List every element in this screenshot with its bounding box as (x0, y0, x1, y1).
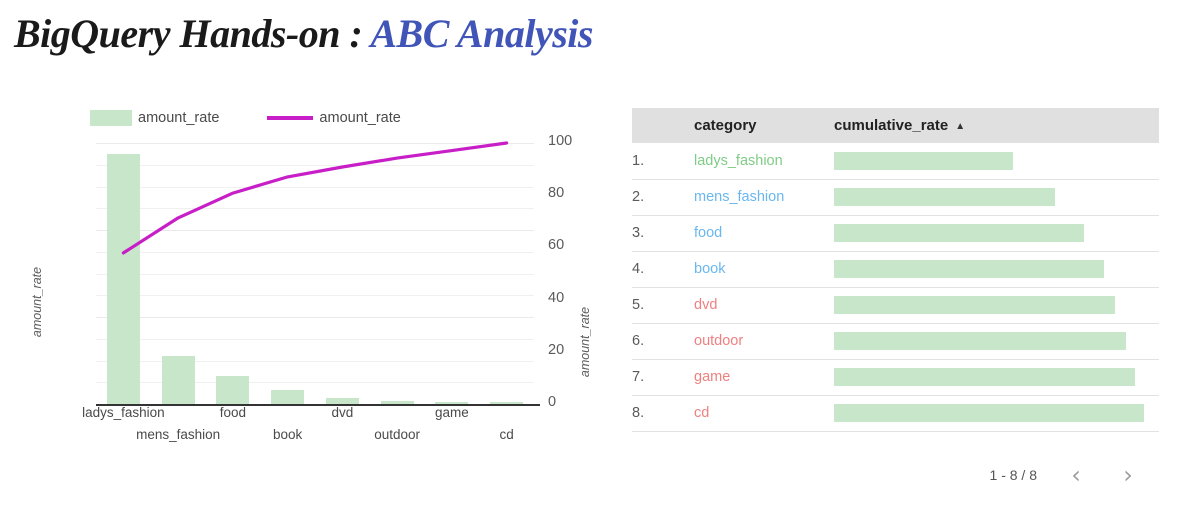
page-title-accent: ABC Analysis (370, 11, 593, 56)
legend-line-swatch-icon (267, 116, 313, 120)
rate-bar-fill (834, 260, 1104, 278)
row-index: 2. (632, 179, 694, 215)
rate-bar-fill (834, 332, 1126, 350)
x-axis-tick: cd (442, 427, 572, 442)
page-title-separator: : (340, 11, 370, 56)
legend-bar-swatch-icon (90, 110, 132, 126)
pareto-chart: amount_rate amount_rate amount_rate amou… (0, 95, 610, 465)
row-cumulative-rate (834, 251, 1159, 287)
table-header-row: category cumulative_rate▲ (632, 108, 1159, 143)
row-category: game (694, 359, 834, 395)
right-axis-tick: 100 (548, 133, 572, 149)
row-category: food (694, 215, 834, 251)
rate-bar-track (834, 260, 1144, 278)
row-index: 6. (632, 323, 694, 359)
row-index: 4. (632, 251, 694, 287)
right-axis-tick: 0 (548, 394, 556, 410)
row-category: book (694, 251, 834, 287)
row-cumulative-rate (834, 323, 1159, 359)
table-row[interactable]: 7.game (632, 359, 1159, 395)
row-cumulative-rate (834, 179, 1159, 215)
legend-item-bar[interactable]: amount_rate (90, 110, 219, 126)
table-body: 1.ladys_fashion2.mens_fashion3.food4.boo… (632, 143, 1159, 431)
row-index: 5. (632, 287, 694, 323)
row-cumulative-rate (834, 143, 1159, 179)
page-title-main: BigQuery Hands-on (14, 11, 340, 56)
row-category: mens_fashion (694, 179, 834, 215)
rate-bar-track (834, 368, 1144, 386)
row-index: 3. (632, 215, 694, 251)
left-axis-title: amount_rate (30, 257, 44, 347)
abc-table: category cumulative_rate▲ 1.ladys_fashio… (632, 108, 1159, 432)
row-cumulative-rate (834, 287, 1159, 323)
table-row[interactable]: 5.dvd (632, 287, 1159, 323)
rate-bar-fill (834, 152, 1013, 170)
rate-bar-fill (834, 404, 1144, 422)
row-index: 8. (632, 395, 694, 431)
previous-page-icon[interactable]: ‹ (1063, 463, 1089, 487)
row-cumulative-rate (834, 215, 1159, 251)
row-index: 1. (632, 143, 694, 179)
legend-item-line[interactable]: amount_rate (267, 110, 400, 126)
results-table: category cumulative_rate▲ 1.ladys_fashio… (632, 108, 1159, 432)
right-axis-tick: 20 (548, 342, 564, 358)
row-category: outdoor (694, 323, 834, 359)
row-category: cd (694, 395, 834, 431)
row-index: 7. (632, 359, 694, 395)
header-index (632, 108, 694, 143)
rate-bar-track (834, 188, 1144, 206)
table-row[interactable]: 4.book (632, 251, 1159, 287)
table-row[interactable]: 3.food (632, 215, 1159, 251)
row-category: ladys_fashion (694, 143, 834, 179)
legend-label-bar: amount_rate (138, 110, 219, 126)
chart-plot-area: 6040200 100806040200 ladys_fashionmens_f… (96, 140, 534, 460)
table-row[interactable]: 2.mens_fashion (632, 179, 1159, 215)
legend-label-line: amount_rate (319, 110, 400, 126)
rate-bar-track (834, 224, 1144, 242)
table-row[interactable]: 1.ladys_fashion (632, 143, 1159, 179)
header-cumulative-rate[interactable]: cumulative_rate▲ (834, 108, 1159, 143)
row-category: dvd (694, 287, 834, 323)
table-row[interactable]: 8.cd (632, 395, 1159, 431)
page-title: BigQuery Hands-on : ABC Analysis (14, 10, 593, 57)
sort-ascending-icon: ▲ (955, 121, 965, 132)
chart-legend: amount_rate amount_rate (90, 107, 401, 129)
rate-bar-fill (834, 368, 1135, 386)
row-cumulative-rate (834, 395, 1159, 431)
right-axis-tick: 60 (548, 237, 564, 253)
rate-bar-track (834, 152, 1144, 170)
x-axis-tick: game (387, 405, 517, 420)
rate-bar-fill (834, 224, 1084, 242)
table-pagination: 1 - 8 / 8 ‹ › (632, 455, 1159, 495)
right-axis-tick: 40 (548, 290, 564, 306)
row-cumulative-rate (834, 359, 1159, 395)
header-category[interactable]: category (694, 108, 834, 143)
rate-bar-fill (834, 296, 1115, 314)
table-row[interactable]: 6.outdoor (632, 323, 1159, 359)
header-cumulative-rate-label: cumulative_rate (834, 117, 948, 134)
rate-bar-fill (834, 188, 1055, 206)
rate-bar-track (834, 332, 1144, 350)
right-axis-title: amount_rate (578, 297, 592, 387)
table-header: category cumulative_rate▲ (632, 108, 1159, 143)
right-axis-tick: 80 (548, 185, 564, 201)
next-page-icon[interactable]: › (1115, 463, 1141, 487)
pagination-range: 1 - 8 / 8 (990, 467, 1037, 483)
rate-bar-track (834, 296, 1144, 314)
rate-bar-track (834, 404, 1144, 422)
